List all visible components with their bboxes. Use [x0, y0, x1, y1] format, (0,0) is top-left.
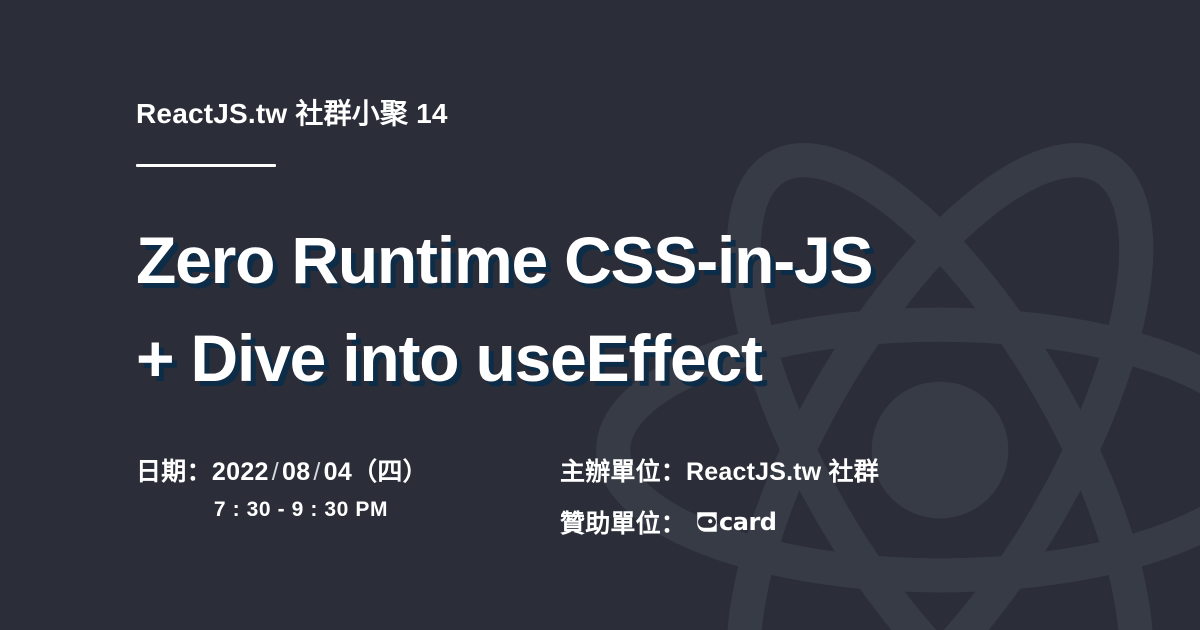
poster-canvas: ReactJS.tw 社群小聚 14 Zero Runtime CSS-in-J… — [0, 0, 1200, 630]
date-separator-1: / — [269, 458, 282, 486]
event-organizer-block: 主辦單位：ReactJS.tw 社群 贊助單位： card — [560, 452, 879, 540]
date-separator-2: / — [310, 458, 323, 486]
page-title-line-1: Zero Runtime CSS-in-JS — [136, 212, 872, 310]
event-date-month: 08 — [282, 458, 310, 486]
event-date-block: 日期：2022/08/04（四） 7 : 30 - 9 : 30 PM — [136, 452, 560, 522]
dcard-logo-icon — [694, 509, 720, 535]
event-sponsor-label: 贊助單位： — [560, 504, 686, 540]
page-title: Zero Runtime CSS-in-JS + Dive into useEf… — [136, 212, 872, 407]
event-date-year: 2022 — [212, 458, 269, 486]
event-date-label: 日期： — [136, 458, 212, 486]
page-title-line-2: + Dive into useEffect — [136, 310, 872, 408]
event-date-day: 04 — [324, 458, 352, 486]
event-date-weekday: （四） — [352, 458, 428, 486]
event-meta: 日期：2022/08/04（四） 7 : 30 - 9 : 30 PM 主辦單位… — [136, 452, 1136, 540]
event-organizer: 主辦單位：ReactJS.tw 社群 — [560, 452, 879, 488]
dcard-wordmark: card — [719, 508, 776, 536]
event-series-title: ReactJS.tw 社群小聚 14 — [136, 92, 448, 132]
title-divider-rule — [136, 164, 276, 167]
dcard-logo: card — [694, 508, 776, 536]
event-sponsor: 贊助單位： card — [560, 504, 879, 540]
event-time: 7 : 30 - 9 : 30 PM — [136, 498, 466, 522]
event-date: 日期：2022/08/04（四） — [136, 452, 560, 488]
event-organizer-value: ReactJS.tw 社群 — [686, 452, 879, 488]
event-organizer-label: 主辦單位： — [560, 452, 686, 488]
